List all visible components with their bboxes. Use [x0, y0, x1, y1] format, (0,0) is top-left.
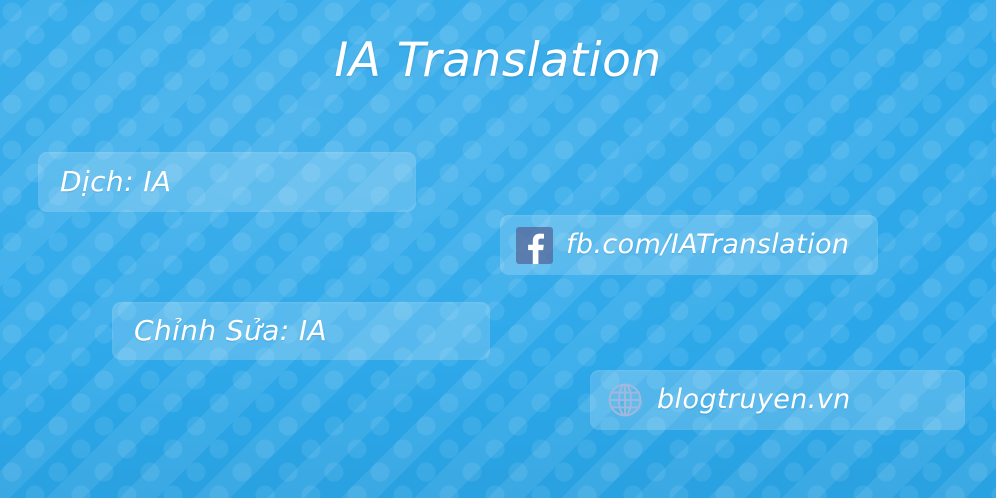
globe-icon-slot — [606, 381, 644, 419]
credit-translator-label: Dịch: IA — [60, 165, 171, 199]
credit-editor-label: Chỉnh Sửa: IA — [134, 314, 327, 348]
globe-icon — [606, 381, 644, 419]
credit-row-website[interactable]: blogtruyen.vn — [590, 370, 965, 430]
facebook-icon-slot — [516, 227, 553, 264]
credit-row-facebook[interactable]: fb.com/IATranslation — [500, 215, 878, 275]
page-title: IA Translation — [0, 28, 996, 94]
credits-card: IA Translation Dịch: IA fb.com/IATransla… — [0, 0, 996, 498]
credit-row-translator: Dịch: IA — [38, 152, 416, 212]
facebook-icon — [516, 227, 553, 264]
credit-facebook-label: fb.com/IATranslation — [566, 228, 849, 262]
credit-website-label: blogtruyen.vn — [657, 383, 851, 417]
credit-row-editor: Chỉnh Sửa: IA — [112, 302, 490, 360]
